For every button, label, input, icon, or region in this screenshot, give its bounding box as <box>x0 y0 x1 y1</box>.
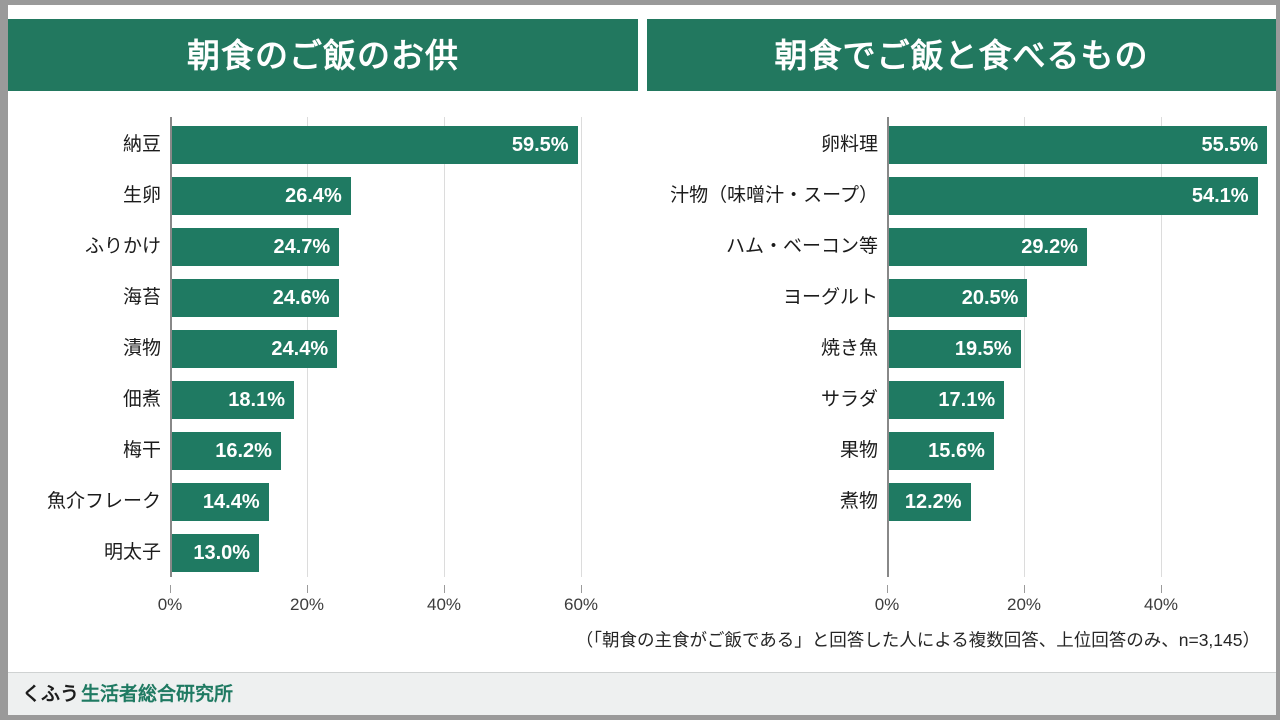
axis-tick <box>581 585 582 593</box>
bar[interactable]: 18.1% <box>170 381 294 419</box>
bar-value-label: 59.5% <box>512 126 569 164</box>
bar-row: 生卵26.4% <box>20 177 620 215</box>
bar-value-label: 20.5% <box>962 279 1019 317</box>
bar-value-label: 17.1% <box>938 381 995 419</box>
bar-row: ふりかけ24.7% <box>20 228 620 266</box>
left-bar-rows: 納豆59.5%生卵26.4%ふりかけ24.7%海苔24.6%漬物24.4%佃煮1… <box>20 117 620 577</box>
brand-name: 生活者総合研究所 <box>81 684 233 705</box>
category-label: 海苔 <box>11 279 170 317</box>
category-label: 煮物 <box>653 483 887 521</box>
bar[interactable]: 29.2% <box>887 228 1087 266</box>
bar-row: 果物15.6% <box>662 432 1262 470</box>
bar[interactable]: 17.1% <box>887 381 1004 419</box>
right-x-axis: 0%20%40% <box>662 585 1262 619</box>
brand-mark: くふう <box>22 684 79 705</box>
right-bar-rows: 卵料理55.5%汁物（味噌汁・スープ）54.1%ハム・ベーコン等29.2%ヨーグ… <box>662 117 1262 577</box>
left-panel-title: 朝食のご飯のお供 <box>187 39 459 72</box>
panel-titles: 朝食のご飯のお供 朝食でご飯と食べるもの <box>8 19 1276 91</box>
bar-row: 梅干16.2% <box>20 432 620 470</box>
bar[interactable]: 15.6% <box>887 432 994 470</box>
category-label: ハム・ベーコン等 <box>653 228 887 266</box>
category-label: サラダ <box>653 381 887 419</box>
bar[interactable]: 16.2% <box>170 432 281 470</box>
bar-row: 明太子13.0% <box>20 534 620 572</box>
bar[interactable]: 55.5% <box>887 126 1267 164</box>
footer-bar: くふう生活者総合研究所 <box>8 672 1276 715</box>
bar-value-label: 14.4% <box>203 483 260 521</box>
category-label: 汁物（味噌汁・スープ） <box>653 177 887 215</box>
bar-value-label: 13.0% <box>193 534 250 572</box>
bar-value-label: 29.2% <box>1021 228 1078 266</box>
right-panel-title: 朝食でご飯と食べるもの <box>775 39 1149 72</box>
category-label: 漬物 <box>11 330 170 368</box>
bar[interactable]: 20.5% <box>887 279 1027 317</box>
category-label: 卵料理 <box>653 126 887 164</box>
category-label: 佃煮 <box>11 381 170 419</box>
left-value-axis <box>170 117 172 577</box>
axis-tick <box>1024 585 1025 593</box>
charts-area: 納豆59.5%生卵26.4%ふりかけ24.7%海苔24.6%漬物24.4%佃煮1… <box>8 109 1276 619</box>
right-value-axis <box>887 117 889 577</box>
bar-row: ハム・ベーコン等29.2% <box>662 228 1262 266</box>
category-label: 果物 <box>653 432 887 470</box>
bar-row: 焼き魚19.5% <box>662 330 1262 368</box>
slide-canvas: 朝食のご飯のお供 朝食でご飯と食べるもの 納豆59.5%生卵26.4%ふりかけ2… <box>8 5 1276 715</box>
bar[interactable]: 26.4% <box>170 177 351 215</box>
axis-tick <box>170 585 171 593</box>
left-x-axis: 0%20%40%60% <box>20 585 620 619</box>
bar-value-label: 54.1% <box>1192 177 1249 215</box>
bar[interactable]: 19.5% <box>887 330 1021 368</box>
left-panel-title-bar: 朝食のご飯のお供 <box>8 19 638 91</box>
right-plot-area: 卵料理55.5%汁物（味噌汁・スープ）54.1%ハム・ベーコン等29.2%ヨーグ… <box>662 117 1262 577</box>
axis-tick-label: 20% <box>290 595 324 615</box>
category-label: 焼き魚 <box>653 330 887 368</box>
bar-row: 漬物24.4% <box>20 330 620 368</box>
bar-row: サラダ17.1% <box>662 381 1262 419</box>
bar[interactable]: 24.4% <box>170 330 337 368</box>
bar[interactable]: 14.4% <box>170 483 269 521</box>
bar-value-label: 15.6% <box>928 432 985 470</box>
bar[interactable]: 12.2% <box>887 483 971 521</box>
brand-logo: くふう生活者総合研究所 <box>22 685 233 704</box>
category-label: ふりかけ <box>11 228 170 266</box>
right-panel-title-bar: 朝食でご飯と食べるもの <box>647 19 1276 91</box>
category-label: 梅干 <box>11 432 170 470</box>
category-label: ヨーグルト <box>653 279 887 317</box>
axis-tick-label: 0% <box>158 595 183 615</box>
axis-tick-label: 60% <box>564 595 598 615</box>
axis-tick <box>307 585 308 593</box>
category-label: 納豆 <box>11 126 170 164</box>
axis-tick <box>887 585 888 593</box>
axis-tick-label: 0% <box>875 595 900 615</box>
axis-tick <box>444 585 445 593</box>
left-chart: 納豆59.5%生卵26.4%ふりかけ24.7%海苔24.6%漬物24.4%佃煮1… <box>8 109 642 619</box>
left-plot-area: 納豆59.5%生卵26.4%ふりかけ24.7%海苔24.6%漬物24.4%佃煮1… <box>20 117 620 577</box>
axis-tick <box>1161 585 1162 593</box>
bar-row: 卵料理55.5% <box>662 126 1262 164</box>
bar-value-label: 24.4% <box>271 330 328 368</box>
axis-tick-label: 40% <box>427 595 461 615</box>
bar[interactable]: 24.7% <box>170 228 339 266</box>
category-label: 生卵 <box>11 177 170 215</box>
bar-value-label: 26.4% <box>285 177 342 215</box>
bar-value-label: 24.6% <box>273 279 330 317</box>
bar[interactable]: 54.1% <box>887 177 1258 215</box>
category-label: 明太子 <box>11 534 170 572</box>
bar-row: ヨーグルト20.5% <box>662 279 1262 317</box>
bar-value-label: 24.7% <box>273 228 330 266</box>
axis-tick-label: 40% <box>1144 595 1178 615</box>
bar-value-label: 19.5% <box>955 330 1012 368</box>
bar[interactable]: 59.5% <box>170 126 578 164</box>
bar-row: 佃煮18.1% <box>20 381 620 419</box>
bar-value-label: 12.2% <box>905 483 962 521</box>
bar[interactable]: 13.0% <box>170 534 259 572</box>
bar-row: 魚介フレーク14.4% <box>20 483 620 521</box>
bar-value-label: 55.5% <box>1201 126 1258 164</box>
bar-value-label: 18.1% <box>228 381 285 419</box>
axis-tick-label: 20% <box>1007 595 1041 615</box>
bar-row: 汁物（味噌汁・スープ）54.1% <box>662 177 1262 215</box>
footnote: （「朝食の主食がご飯である」と回答した人による複数回答、上位回答のみ、n=3,1… <box>576 627 1260 652</box>
bar-row: 煮物12.2% <box>662 483 1262 521</box>
bar[interactable]: 24.6% <box>170 279 339 317</box>
category-label: 魚介フレーク <box>11 483 170 521</box>
right-chart: 卵料理55.5%汁物（味噌汁・スープ）54.1%ハム・ベーコン等29.2%ヨーグ… <box>642 109 1276 619</box>
bar-value-label: 16.2% <box>215 432 272 470</box>
bar-row: 海苔24.6% <box>20 279 620 317</box>
bar-row: 納豆59.5% <box>20 126 620 164</box>
